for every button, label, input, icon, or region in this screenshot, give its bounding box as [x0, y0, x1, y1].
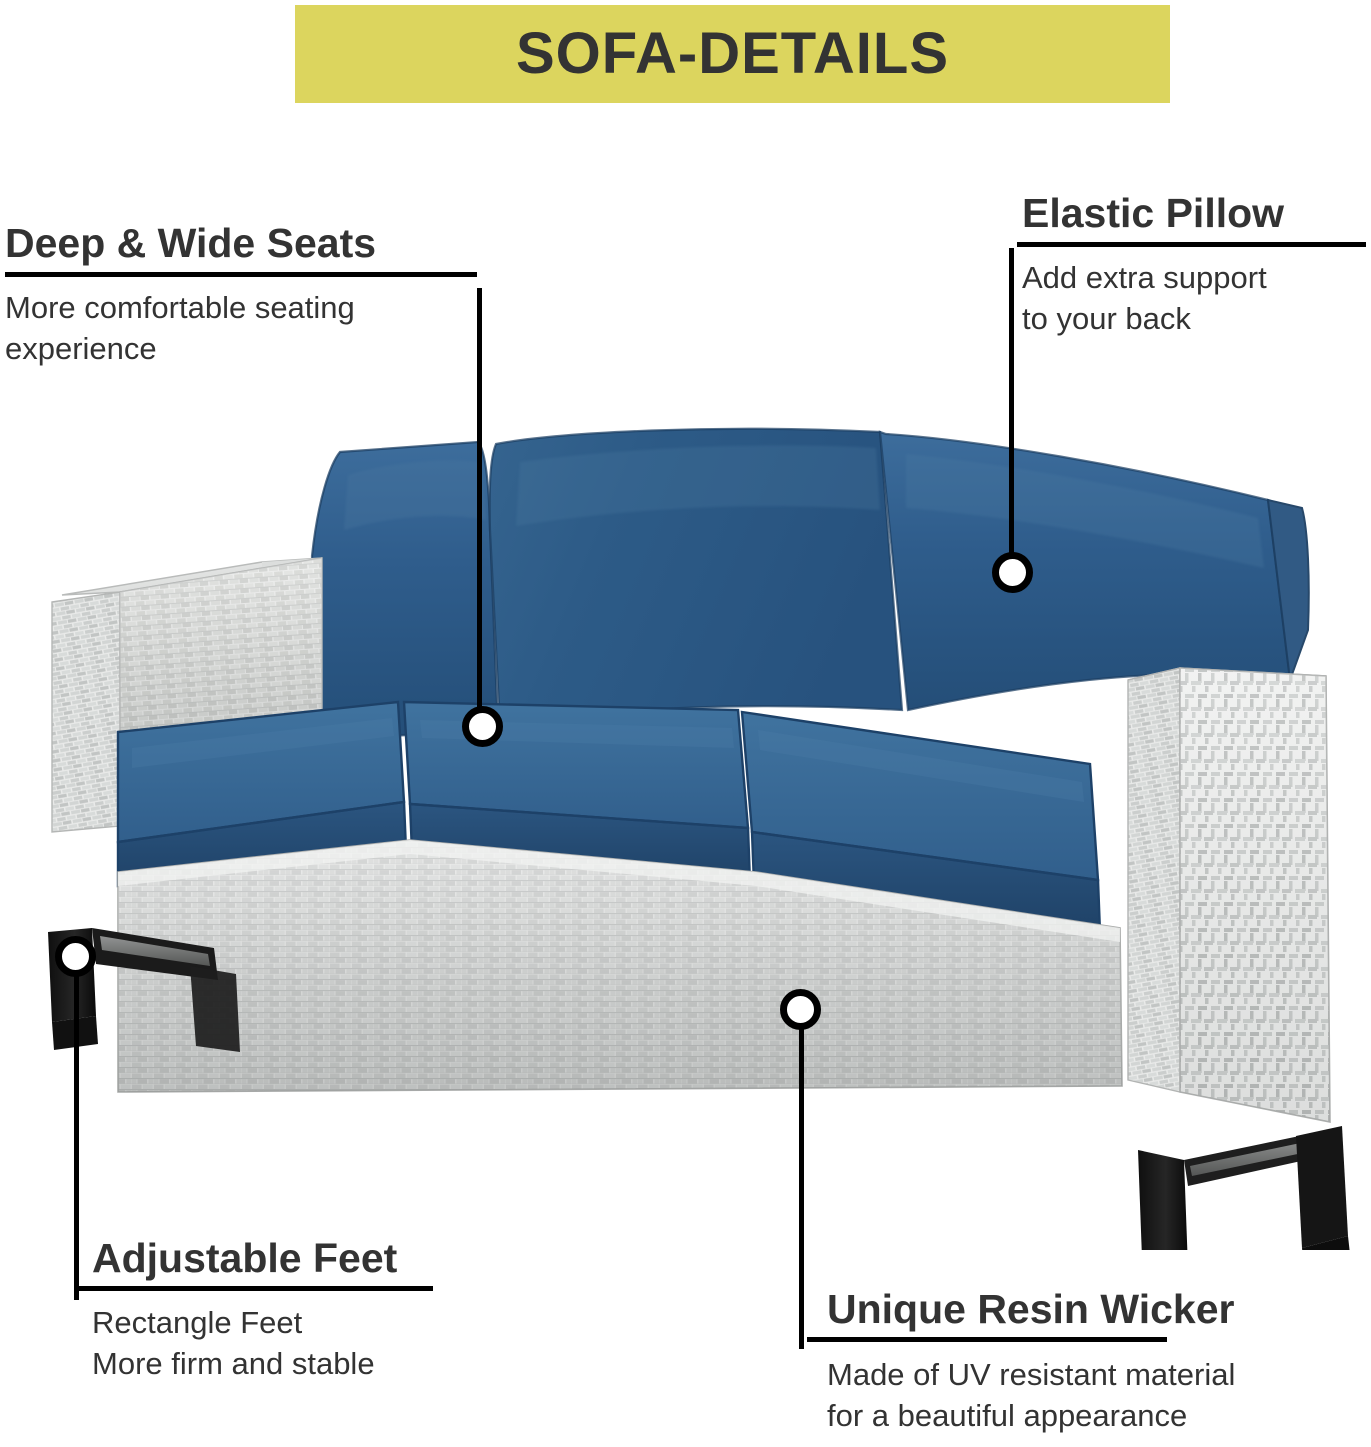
- infographic-canvas: SOFA-DETAILS: [0, 0, 1371, 1447]
- callout-body-elastic-pillow: Add extra support to your back: [1022, 258, 1366, 340]
- callout-marker-unique-resin-wicker[interactable]: [780, 989, 821, 1030]
- callout-body-unique-resin-wicker: Made of UV resistant material for a beau…: [827, 1355, 1347, 1437]
- callout-unique-resin-wicker: Unique Resin Wicker Made of UV resistant…: [827, 1288, 1347, 1437]
- callout-marker-adjustable-feet[interactable]: [55, 936, 96, 977]
- callout-body-line-2: experience: [5, 329, 485, 370]
- callout-body-line-2: for a beautiful appearance: [827, 1396, 1347, 1437]
- title-banner: SOFA-DETAILS: [295, 5, 1170, 103]
- leader-line-elastic-pillow: [1009, 248, 1014, 578]
- callout-elastic-pillow: Elastic Pillow Add extra support to your…: [1022, 192, 1366, 340]
- callout-body-line-2: More firm and stable: [92, 1344, 492, 1385]
- sofa-illustration: [0, 380, 1371, 1250]
- callout-body-adjustable-feet: Rectangle Feet More firm and stable: [92, 1303, 492, 1385]
- callout-marker-elastic-pillow[interactable]: [992, 552, 1033, 593]
- callout-adjustable-feet: Adjustable Feet Rectangle Feet More firm…: [92, 1237, 492, 1385]
- leader-line-adjustable-feet: [74, 952, 79, 1300]
- callout-body-line-2: to your back: [1022, 299, 1366, 340]
- callout-heading-elastic-pillow: Elastic Pillow: [1022, 192, 1366, 235]
- callout-deep-wide-seats: Deep & Wide Seats More comfortable seati…: [5, 222, 485, 370]
- callout-marker-deep-wide-seats[interactable]: [462, 706, 503, 747]
- callout-body-line-1: More comfortable seating: [5, 288, 485, 329]
- callout-body-line-1: Add extra support: [1022, 258, 1366, 299]
- callout-heading-adjustable-feet: Adjustable Feet: [92, 1237, 492, 1280]
- callout-body-line-1: Rectangle Feet: [92, 1303, 492, 1344]
- callout-rule-unique-resin-wicker: [807, 1337, 1167, 1342]
- callout-rule-elastic-pillow: [1017, 242, 1366, 247]
- callout-heading-deep-wide-seats: Deep & Wide Seats: [5, 222, 485, 265]
- callout-rule-deep-wide-seats: [5, 272, 477, 277]
- page-title: SOFA-DETAILS: [516, 25, 949, 83]
- callout-rule-adjustable-feet: [78, 1286, 433, 1291]
- leader-line-unique-resin-wicker: [799, 1005, 804, 1349]
- callout-body-deep-wide-seats: More comfortable seating experience: [5, 288, 485, 370]
- callout-heading-unique-resin-wicker: Unique Resin Wicker: [827, 1288, 1347, 1331]
- callout-body-line-1: Made of UV resistant material: [827, 1355, 1347, 1396]
